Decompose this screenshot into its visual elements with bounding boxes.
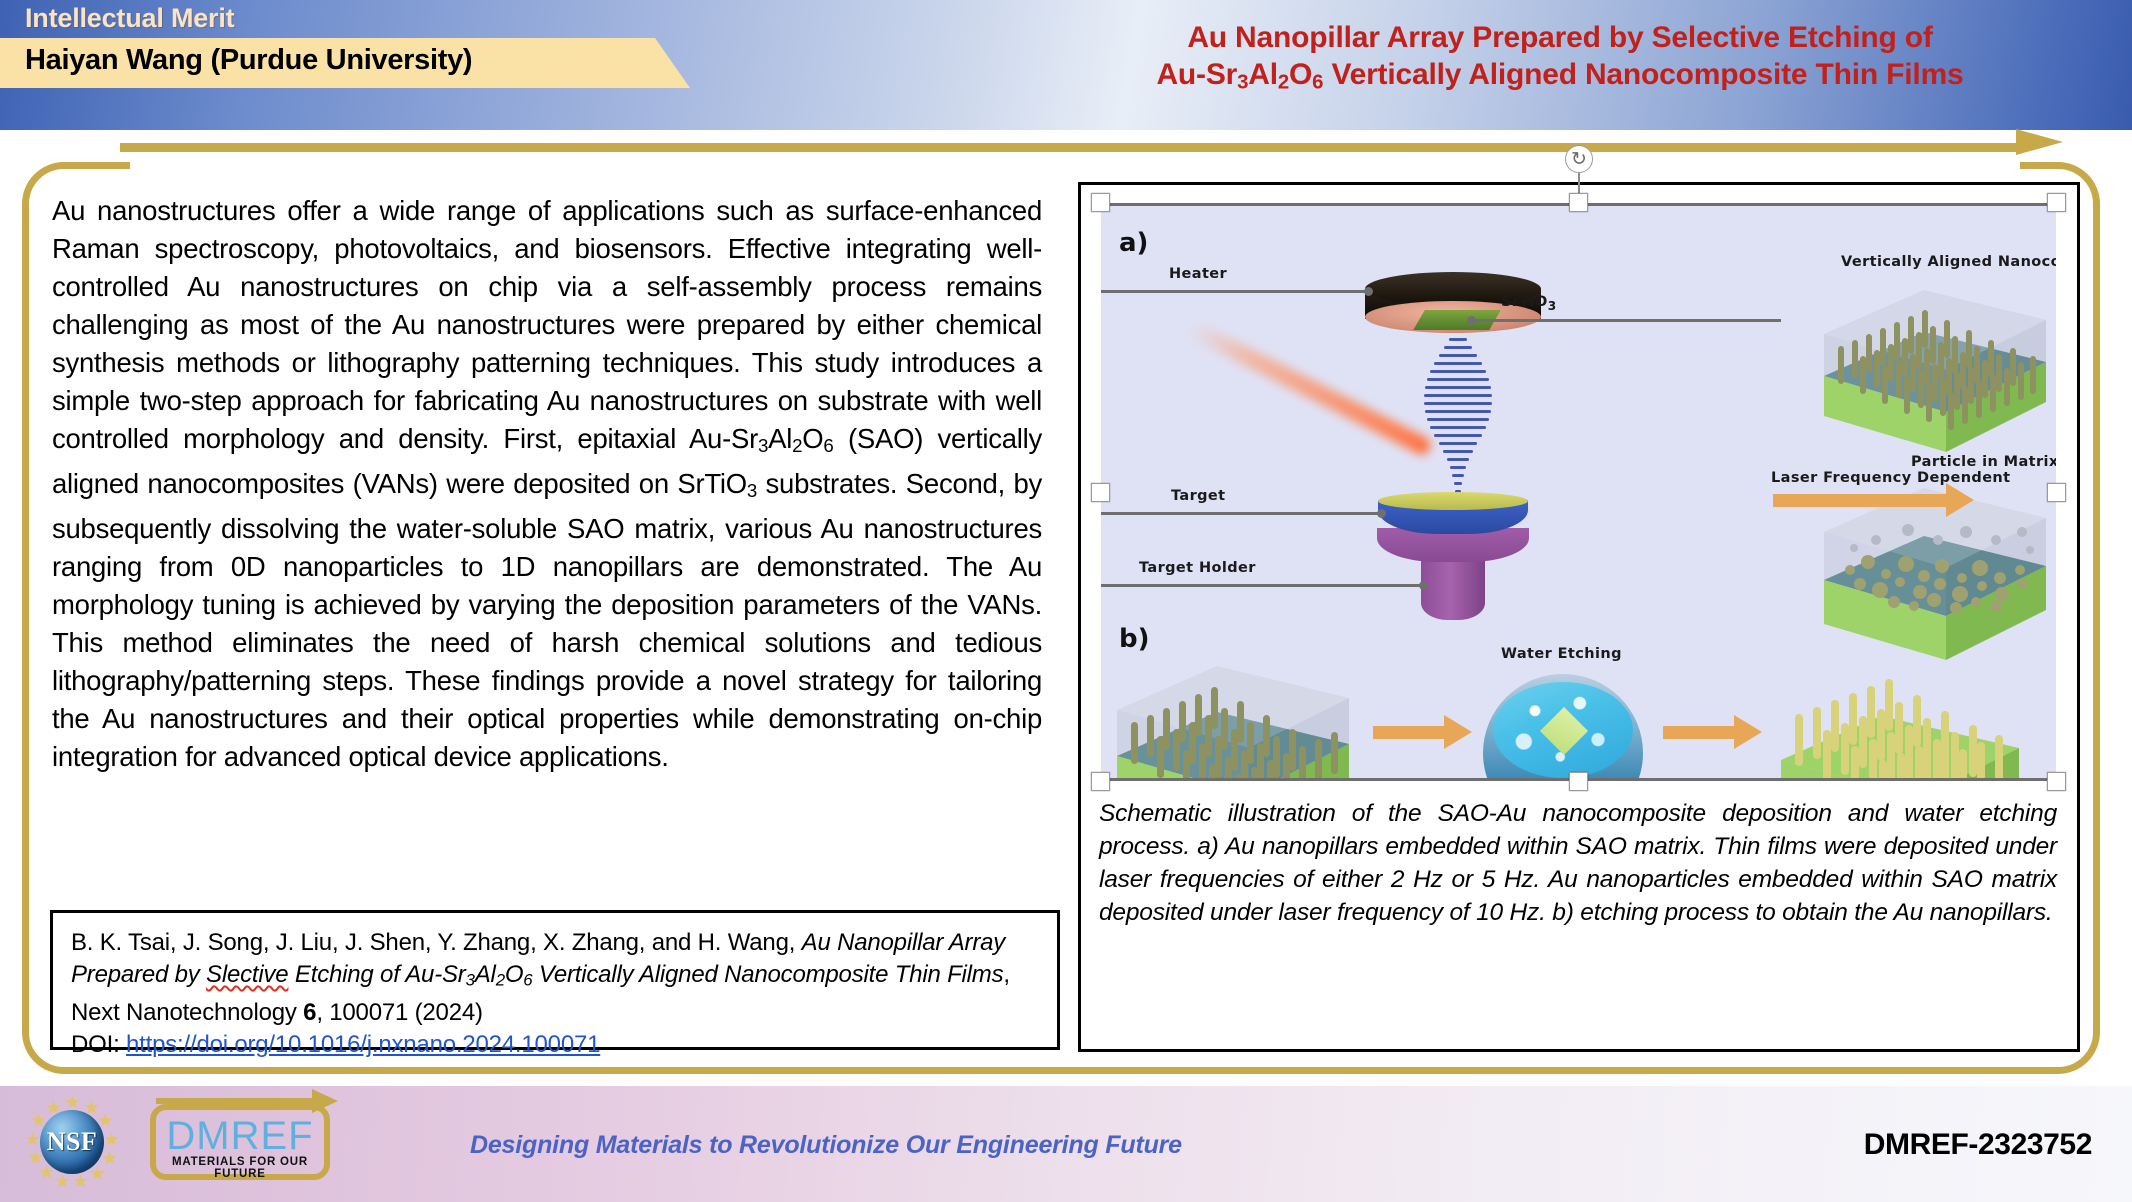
citation-authors: B. K. Tsai, J. Song, J. Liu, J. Shen, Y.… <box>71 929 802 956</box>
citation-title-b: Etching of Au-Sr <box>288 961 465 988</box>
label-laser-frequency: Laser Frequency Dependent <box>1771 470 2010 486</box>
presenter-name: Haiyan Wang (Purdue University) <box>25 44 472 77</box>
schematic-illustration[interactable]: a) <box>1101 203 2056 781</box>
poster-slide: Intellectual Merit Haiyan Wang (Purdue U… <box>0 0 2132 1202</box>
heater-leader-line <box>1101 290 1369 293</box>
citation-title-d: O <box>505 961 523 988</box>
doi-label: DOI: <box>71 1031 126 1058</box>
etch-arrow-2-head-icon <box>1734 715 1762 749</box>
citation-sub-2: 2 <box>496 971 505 990</box>
label-substrate-sub: 3 <box>1548 299 1557 313</box>
title-line-2-d: Vertically Aligned Nanocomposite Thin Fi… <box>1323 58 1963 91</box>
label-substrate-text: SrTiO <box>1501 294 1548 310</box>
post-etch-nanopillars-illustration <box>1769 656 2035 781</box>
figure-image-wrapper[interactable]: ↻ a) <box>1101 203 2056 781</box>
resize-handle-bottom-center[interactable] <box>1569 772 1588 791</box>
panel-b-label: b) <box>1119 624 1150 654</box>
laser-beam <box>1185 319 1434 458</box>
poster-header: Intellectual Merit Haiyan Wang (Purdue U… <box>0 0 2132 130</box>
label-target-holder: Target Holder <box>1139 560 1256 576</box>
etch-arrow-1-head-icon <box>1444 715 1472 749</box>
dmref-tagline: MATERIALS FOR OUR FUTURE <box>150 1156 330 1180</box>
gold-arrow-head-icon <box>2016 129 2063 155</box>
title-line-2-a: Au-Sr <box>1156 58 1237 91</box>
citation-reference: B. K. Tsai, J. Song, J. Liu, J. Shen, Y.… <box>71 927 1039 1029</box>
laser-freq-arrow-bar <box>1773 494 1947 507</box>
nsf-label: NSF <box>26 1096 118 1188</box>
dmref-logo: DMREF MATERIALS FOR OUR FUTURE <box>150 1098 340 1186</box>
abstract-sub-2: 2 <box>792 435 802 456</box>
rotate-icon[interactable]: ↻ <box>1565 145 1593 173</box>
program-tagline: Designing Materials to Revolutionize Our… <box>470 1131 1182 1160</box>
holder-leader-line <box>1101 584 1425 587</box>
abstract-part-3: O <box>802 423 823 454</box>
figure-box: ↻ a) <box>1078 182 2080 1052</box>
title-sub-1: 3 <box>1237 71 1248 93</box>
panel-a-label: a) <box>1119 228 1148 258</box>
substrate-leader-line <box>1471 319 1781 322</box>
heater-leader-dot <box>1364 287 1373 296</box>
substrate-leader-dot <box>1467 316 1476 325</box>
abstract-sub-3: 6 <box>823 435 833 456</box>
dmref-bracket-top-gap <box>150 1100 325 1110</box>
abstract-part-1: Au nanostructures offer a wide range of … <box>52 195 1042 454</box>
target-top <box>1378 492 1528 510</box>
etch-arrow-1-bar <box>1373 726 1445 739</box>
dmref-wordmark: DMREF <box>150 1114 330 1159</box>
plasma-plume <box>1421 328 1495 514</box>
title-line-1: Au Nanopillar Array Prepared by Selectiv… <box>1187 21 1932 54</box>
abstract-text: Au nanostructures offer a wide range of … <box>52 192 1042 776</box>
label-van: Vertically Aligned Nanocomposite <box>1841 254 2056 270</box>
abstract-part-5: substrates. Second, by subsequently diss… <box>52 468 1042 772</box>
citation-pages: , 100071 (2024) <box>316 999 482 1026</box>
target-holder-stem <box>1421 554 1485 620</box>
citation-title-e: Vertically Aligned Nanocomposite Thin Fi… <box>532 961 1003 988</box>
title-line-2-b: Al <box>1248 58 1278 91</box>
frame-top-mask <box>130 155 2020 171</box>
resize-handle-top-left[interactable] <box>1091 193 1110 212</box>
label-water-etching: Water Etching <box>1501 646 1622 662</box>
pre-etch-block-illustration <box>1109 656 1361 781</box>
resize-handle-top-right[interactable] <box>2047 193 2066 212</box>
section-label: Intellectual Merit <box>25 3 234 34</box>
doi-link[interactable]: https://doi.org/10.1016/j.nxnano.2024.10… <box>126 1031 600 1058</box>
title-sub-2: 2 <box>1278 71 1289 93</box>
abstract-sub-4: 3 <box>747 480 757 501</box>
laser-freq-arrow-head-icon <box>1946 483 1974 517</box>
resize-handle-middle-right[interactable] <box>2047 483 2066 502</box>
resize-handle-middle-left[interactable] <box>1091 483 1110 502</box>
award-number: DMREF-2323752 <box>1864 1128 2092 1162</box>
target-leader-line <box>1101 512 1383 515</box>
gold-arrow-bar <box>120 143 2020 152</box>
label-particle-in-matrix: Particle in Matrix <box>1911 454 2056 470</box>
citation-doi-line: DOI: https://doi.org/10.1016/j.nxnano.20… <box>71 1029 1039 1061</box>
citation-title-c: Al <box>475 961 496 988</box>
citation-box: B. K. Tsai, J. Song, J. Liu, J. Shen, Y.… <box>50 910 1060 1050</box>
figure-caption: Schematic illustration of the SAO-Au nan… <box>1099 797 2057 929</box>
abstract-sub-1: 3 <box>758 435 768 456</box>
label-heater: Heater <box>1169 266 1227 282</box>
nsf-logo: NSF <box>26 1096 118 1188</box>
title-sub-3: 6 <box>1312 71 1323 93</box>
resize-handle-top-center[interactable] <box>1569 193 1588 212</box>
abstract-part-2: Al <box>768 423 792 454</box>
page-title: Au Nanopillar Array Prepared by Selectiv… <box>1000 20 2120 95</box>
citation-volume: 6 <box>303 999 316 1026</box>
holder-leader-dot <box>1419 581 1428 590</box>
citation-title-misspelled: Slective <box>206 961 288 988</box>
resize-handle-bottom-left[interactable] <box>1091 772 1110 791</box>
title-line-2-c: O <box>1289 58 1312 91</box>
citation-sub-1: 3 <box>466 971 475 990</box>
etch-arrow-2-bar <box>1663 726 1735 739</box>
target-leader-dot <box>1377 509 1386 518</box>
label-substrate: SrTiO3 <box>1501 294 1557 313</box>
resize-handle-bottom-right[interactable] <box>2047 772 2066 791</box>
label-target: Target <box>1171 488 1226 504</box>
van-block-illustration <box>1816 284 2054 464</box>
